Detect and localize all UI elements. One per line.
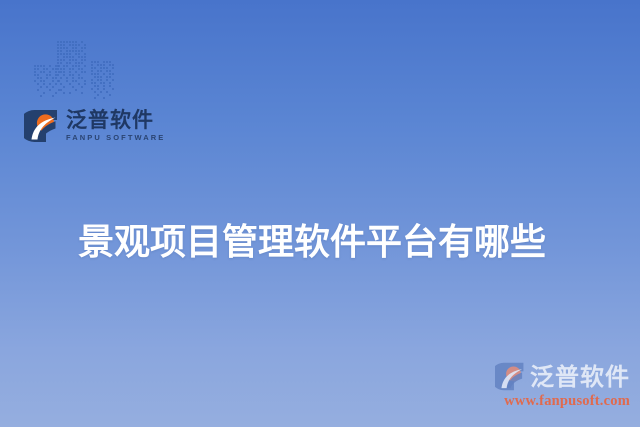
skyline-dot [37,77,39,79]
skyline-dot [46,74,48,76]
fanpu-logo-icon [24,108,60,144]
skyline-dot [37,74,39,76]
skyline-dot [100,82,102,84]
skyline-dot [60,83,62,85]
skyline-dot [103,97,105,99]
skyline-dot [63,56,65,58]
skyline-dot [78,53,80,55]
skyline-dot [100,76,102,78]
skyline-dot [100,91,102,93]
skyline-dot [109,64,111,66]
skyline-dot [75,89,77,91]
skyline-dot [52,77,54,79]
skyline-dot [72,65,74,67]
skyline-dot [103,67,105,69]
skyline-dot [55,92,57,94]
skyline-dot [57,80,59,82]
skyline-dot [69,59,71,61]
watermark-name-cn: 泛普软件 [530,365,630,389]
skyline-dot [60,71,62,73]
skyline-dot [69,71,71,73]
skyline-dot [112,64,114,66]
skyline-dot [91,64,93,66]
skyline-dot [106,79,108,81]
skyline-dot [60,47,62,49]
skyline-dot [97,94,99,96]
skyline-dot [112,88,114,90]
skyline-dot [84,53,86,55]
skyline-dot [97,76,99,78]
skyline-dot [103,82,105,84]
skyline-dot [63,41,65,43]
skyline-dot [97,61,99,63]
watermark: 泛普软件 www.fanpusoft.com [490,361,630,415]
skyline-dot [84,44,86,46]
skyline-dot [57,68,59,70]
skyline-dot [69,53,71,55]
skyline-dot [75,62,77,64]
skyline-dot [58,71,60,73]
skyline-dot [57,74,59,76]
skyline-dot [78,56,80,58]
skyline-dot [57,44,59,46]
skyline-dot [72,47,74,49]
skyline-dot [97,70,99,72]
skyline-dot [94,61,96,63]
skyline-dot [72,50,74,52]
skyline-dot [103,88,105,90]
skyline-dot [75,47,77,49]
skyline-dot [58,80,60,82]
banner-image: 泛普软件 FANPU SOFTWARE 景观项目管理软件平台有哪些 泛普软件 w… [0,0,640,427]
skyline-dot [84,83,86,85]
skyline-dot [91,61,93,63]
skyline-dot [94,85,96,87]
skyline-dot [52,95,54,97]
skyline-dot [69,41,71,43]
skyline-dot [81,68,83,70]
skyline-dot [66,65,68,67]
skyline-block-left [34,65,60,97]
skyline-dot [97,88,99,90]
skyline-dot [72,44,74,46]
skyline-block-center [57,41,86,94]
skyline-dot [66,41,68,43]
skyline-dot [57,59,59,61]
skyline-dot [66,53,68,55]
skyline-dot [49,65,51,67]
skyline-dot [60,89,62,91]
skyline-dot [69,56,71,58]
skyline-dot [81,71,83,73]
skyline-dot [57,47,59,49]
skyline-dot [52,68,54,70]
skyline-dot [46,86,48,88]
skyline-dot [46,77,48,79]
skyline-dot [49,83,51,85]
skyline-dot [106,61,108,63]
skyline-dot [34,71,36,73]
skyline-dot [57,41,59,43]
skyline-dot [63,86,65,88]
skyline-dot [69,74,71,76]
skyline-dot [43,80,45,82]
skyline-dot [46,68,48,70]
skyline-dot [69,50,71,52]
skyline-dot [106,91,108,93]
skyline-dot [40,77,42,79]
skyline-dot [78,74,80,76]
skyline-dot [43,71,45,73]
skyline-dot [81,47,83,49]
skyline-dot [49,89,51,91]
skyline-dot [75,53,77,55]
skyline-dot [69,68,71,70]
skyline-dot [109,85,111,87]
skyline-dot [75,50,77,52]
skyline-dot [60,50,62,52]
skyline-dot [60,68,62,70]
skyline-dot [55,74,57,76]
skyline-dot [75,59,77,61]
skyline-dot [100,67,102,69]
skyline-dot [55,65,57,67]
skyline-dot [81,77,83,79]
skyline-dot [75,44,77,46]
skyline-dot [66,50,68,52]
skyline-dot [84,59,86,61]
skyline-dot [100,70,102,72]
skyline-dot [66,47,68,49]
skyline-dot [103,85,105,87]
skyline-dot [69,62,71,64]
skyline-dot [40,80,42,82]
skyline-dot [34,80,36,82]
skyline-dot [66,62,68,64]
skyline-dot [75,65,77,67]
skyline-dot [49,74,51,76]
skyline-dot [91,79,93,81]
skyline-dot [57,50,59,52]
skyline-dot [103,64,105,66]
skyline-dot [63,92,65,94]
skyline-dot [75,41,77,43]
skyline-dot [63,71,65,73]
skyline-dot [63,53,65,55]
skyline-dot [112,73,114,75]
skyline-dot [43,92,45,94]
skyline-dot [57,53,59,55]
skyline-dot [81,50,83,52]
skyline-dot [69,44,71,46]
skyline-dot [52,86,54,88]
skyline-dot [55,71,57,73]
skyline-dot [81,62,83,64]
skyline-dot [78,83,80,85]
skyline-dot [91,82,93,84]
skyline-dot [40,95,42,97]
skyline-dot [40,71,42,73]
skyline-dot [84,47,86,49]
skyline-dot [34,65,36,67]
skyline-dot [52,80,54,82]
watermark-logo-row: 泛普软件 [490,361,630,392]
skyline-dot [103,73,105,75]
watermark-url: www.fanpusoft.com [490,394,630,409]
skyline-dot [60,77,62,79]
skyline-dot [63,44,65,46]
skyline-dot [37,83,39,85]
skyline-dot [66,80,68,82]
skyline-dot [75,71,77,73]
skyline-dot [37,65,39,67]
skyline-dot [91,73,93,75]
skyline-dot [112,79,114,81]
skyline-dot [49,71,51,73]
skyline-dot [91,88,93,90]
skyline-dot [97,73,99,75]
skyline-dot [81,59,83,61]
skyline-dot [97,64,99,66]
skyline-dot [78,68,80,70]
skyline-dot [81,56,83,58]
skyline-dot [60,41,62,43]
skyline-dot [94,82,96,84]
skyline-dot [60,44,62,46]
skyline-dot [57,56,59,58]
skyline-dot [112,67,114,69]
skyline-dot [55,83,57,85]
skyline-dot [84,56,86,58]
skyline-dot [43,65,45,67]
skyline-dot [60,59,62,61]
skyline-dot [91,67,93,69]
skyline-block-right [91,61,114,99]
skyline-dot [84,65,86,67]
skyline-dot [60,62,62,64]
skyline-dot [91,70,93,72]
skyline-dot [57,62,59,64]
skyline-dot [75,80,77,82]
skyline-dot [78,44,80,46]
dot-matrix-skyline-decoration [30,38,122,112]
skyline-dot [81,92,83,94]
skyline-dot [72,56,74,58]
skyline-dot [94,91,96,93]
skyline-dot [106,67,108,69]
skyline-dot [72,59,74,61]
skyline-dot [100,79,102,81]
skyline-dot [37,89,39,91]
skyline-dot [72,68,74,70]
skyline-dot [58,89,60,91]
brand-name-en: FANPU SOFTWARE [66,134,165,142]
skyline-dot [69,92,71,94]
skyline-dot [72,74,74,76]
skyline-dot [109,61,111,63]
skyline-dot [94,97,96,99]
skyline-dot [40,86,42,88]
skyline-dot [97,79,99,81]
skyline-dot [63,65,65,67]
skyline-dot [43,68,45,70]
skyline-dot [72,80,74,82]
skyline-dot [69,83,71,85]
skyline-dot [84,71,86,73]
skyline-dot [60,53,62,55]
skyline-dot [78,50,80,52]
skyline-dot [63,47,65,49]
skyline-dot [103,61,105,63]
skyline-dot [34,68,36,70]
skyline-dot [72,41,74,43]
skyline-dot [94,73,96,75]
brand-name-cn: 泛普软件 [66,110,165,131]
skyline-dot [100,64,102,66]
skyline-dot [55,68,57,70]
skyline-dot [58,65,60,67]
brand-wordmark: 泛普软件 FANPU SOFTWARE [66,110,165,142]
skyline-dot [97,85,99,87]
skyline-dot [72,86,74,88]
skyline-dot [40,65,42,67]
skyline-dot [109,82,111,84]
skyline-dot [43,83,45,85]
skyline-dot [66,56,68,58]
skyline-dot [84,80,86,82]
skyline-dot [57,65,59,67]
skyline-dot [109,94,111,96]
skyline-dot [37,68,39,70]
skyline-dot [78,65,80,67]
fanpu-logo-watermark-icon [495,361,526,392]
brand-logo[interactable]: 泛普软件 FANPU SOFTWARE [24,108,165,144]
skyline-dot [81,86,83,88]
skyline-dot [63,59,65,61]
skyline-dot [106,70,108,72]
skyline-dot [66,77,68,79]
skyline-dot [72,77,74,79]
skyline-dot [81,41,83,43]
skyline-dot [34,74,36,76]
skyline-dot [106,76,108,78]
skyline-dot [109,70,111,72]
skyline-dot [94,67,96,69]
skyline-dot [63,74,65,76]
skyline-dot [55,77,57,79]
page-title: 景观项目管理软件平台有哪些 [78,222,546,263]
skyline-dot [109,76,111,78]
skyline-dot [63,68,65,70]
skyline-dot [78,62,80,64]
skyline-dot [78,77,80,79]
skyline-dot [94,76,96,78]
skyline-dot [109,73,111,75]
